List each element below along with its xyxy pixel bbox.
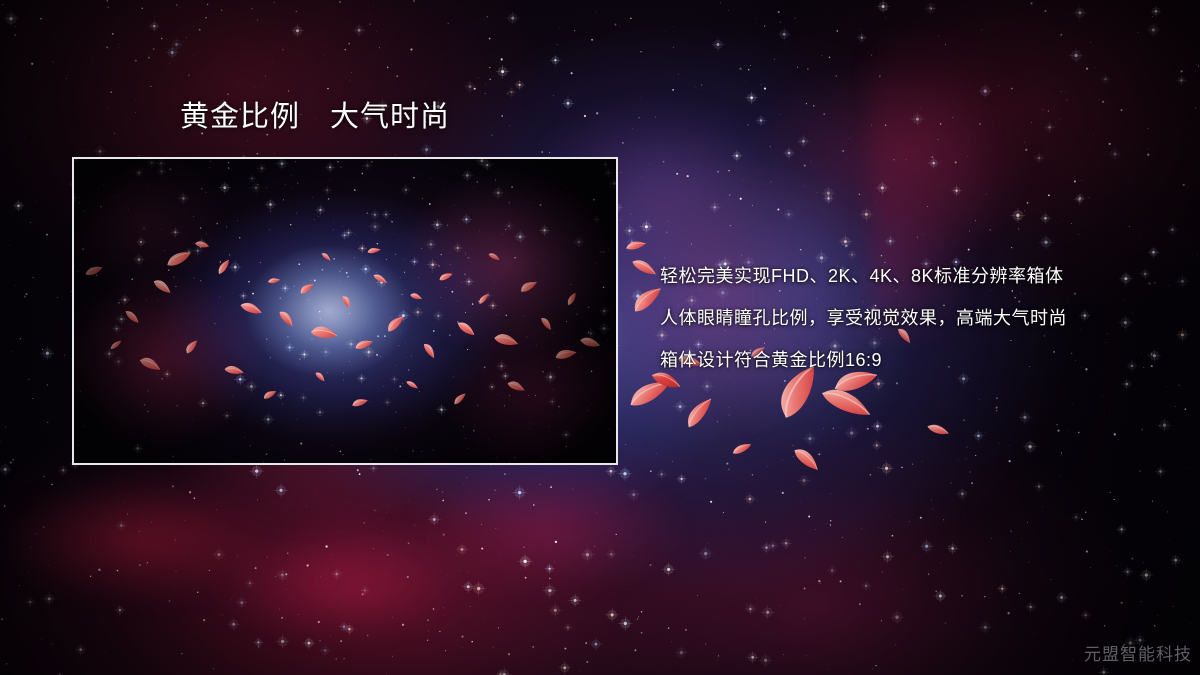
description-line-2: 人体眼睛瞳孔比例，享受视觉效果，高端大气时尚 xyxy=(660,297,1180,339)
panel-nebula-image xyxy=(74,159,616,463)
slide-canvas: 黄金比例 大气时尚 轻松完美实现FHD、2K、4K、8K标准分辨率箱体 人体眼睛… xyxy=(0,0,1200,675)
description-line-1: 轻松完美实现FHD、2K、4K、8K标准分辨率箱体 xyxy=(660,255,1180,297)
description-text-block: 轻松完美实现FHD、2K、4K、8K标准分辨率箱体 人体眼睛瞳孔比例，享受视觉效… xyxy=(660,255,1180,381)
brand-watermark: 元盟智能科技 xyxy=(1084,640,1192,665)
image-panel xyxy=(72,157,618,465)
description-line-3: 箱体设计符合黄金比例16:9 xyxy=(660,339,1180,381)
nebula-wisp-lower-left xyxy=(0,430,760,675)
page-title: 黄金比例 大气时尚 xyxy=(180,100,450,135)
